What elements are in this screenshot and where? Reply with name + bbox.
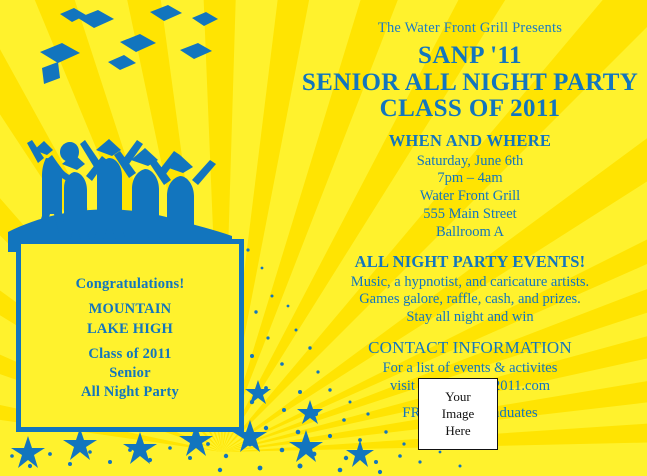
panel-line-senior: Senior — [21, 364, 239, 383]
venue-name: Water Front Grill — [300, 188, 640, 206]
events-line-3: Stay all night and win — [300, 309, 640, 327]
event-details-column: The Water Front Grill Presents SANP '11 … — [300, 20, 640, 422]
panel-line-party: All Night Party — [21, 383, 239, 402]
title-line-1: SANP '11 — [300, 43, 640, 70]
image-placeholder-line-1: Your — [419, 388, 497, 405]
when-date: Saturday, June 6th — [300, 153, 640, 171]
events-line-2: Games galore, raffle, cash, and prizes. — [300, 291, 640, 309]
presents-line: The Water Front Grill Presents — [300, 20, 640, 37]
events-line-1: Music, a hypnotist, and caricature artis… — [300, 274, 640, 292]
image-placeholder[interactable]: Your Image Here — [418, 378, 498, 450]
when-time: 7pm – 4am — [300, 170, 640, 188]
venue-room: Ballroom A — [300, 224, 640, 242]
image-placeholder-line-2: Image — [419, 405, 497, 422]
panel-line-congratulations: Congratulations! — [21, 275, 239, 294]
contact-heading: CONTACT INFORMATION — [300, 338, 640, 358]
title-line-3: CLASS OF 2011 — [300, 96, 640, 123]
invitation-card: Congratulations! MOUNTAIN LAKE HIGH Clas… — [0, 0, 647, 476]
when-and-where-heading: WHEN AND WHERE — [300, 131, 640, 151]
panel-line-school-2: LAKE HIGH — [21, 320, 239, 339]
venue-street: 555 Main Street — [300, 206, 640, 224]
title-line-2: SENIOR ALL NIGHT PARTY — [300, 70, 640, 97]
contact-line-1: For a list of events & activites — [300, 360, 640, 378]
congratulations-panel: Congratulations! MOUNTAIN LAKE HIGH Clas… — [16, 239, 244, 432]
panel-line-class: Class of 2011 — [21, 345, 239, 364]
image-placeholder-line-3: Here — [419, 422, 497, 439]
events-heading: ALL NIGHT PARTY EVENTS! — [300, 252, 640, 272]
panel-line-school-1: MOUNTAIN — [21, 300, 239, 319]
